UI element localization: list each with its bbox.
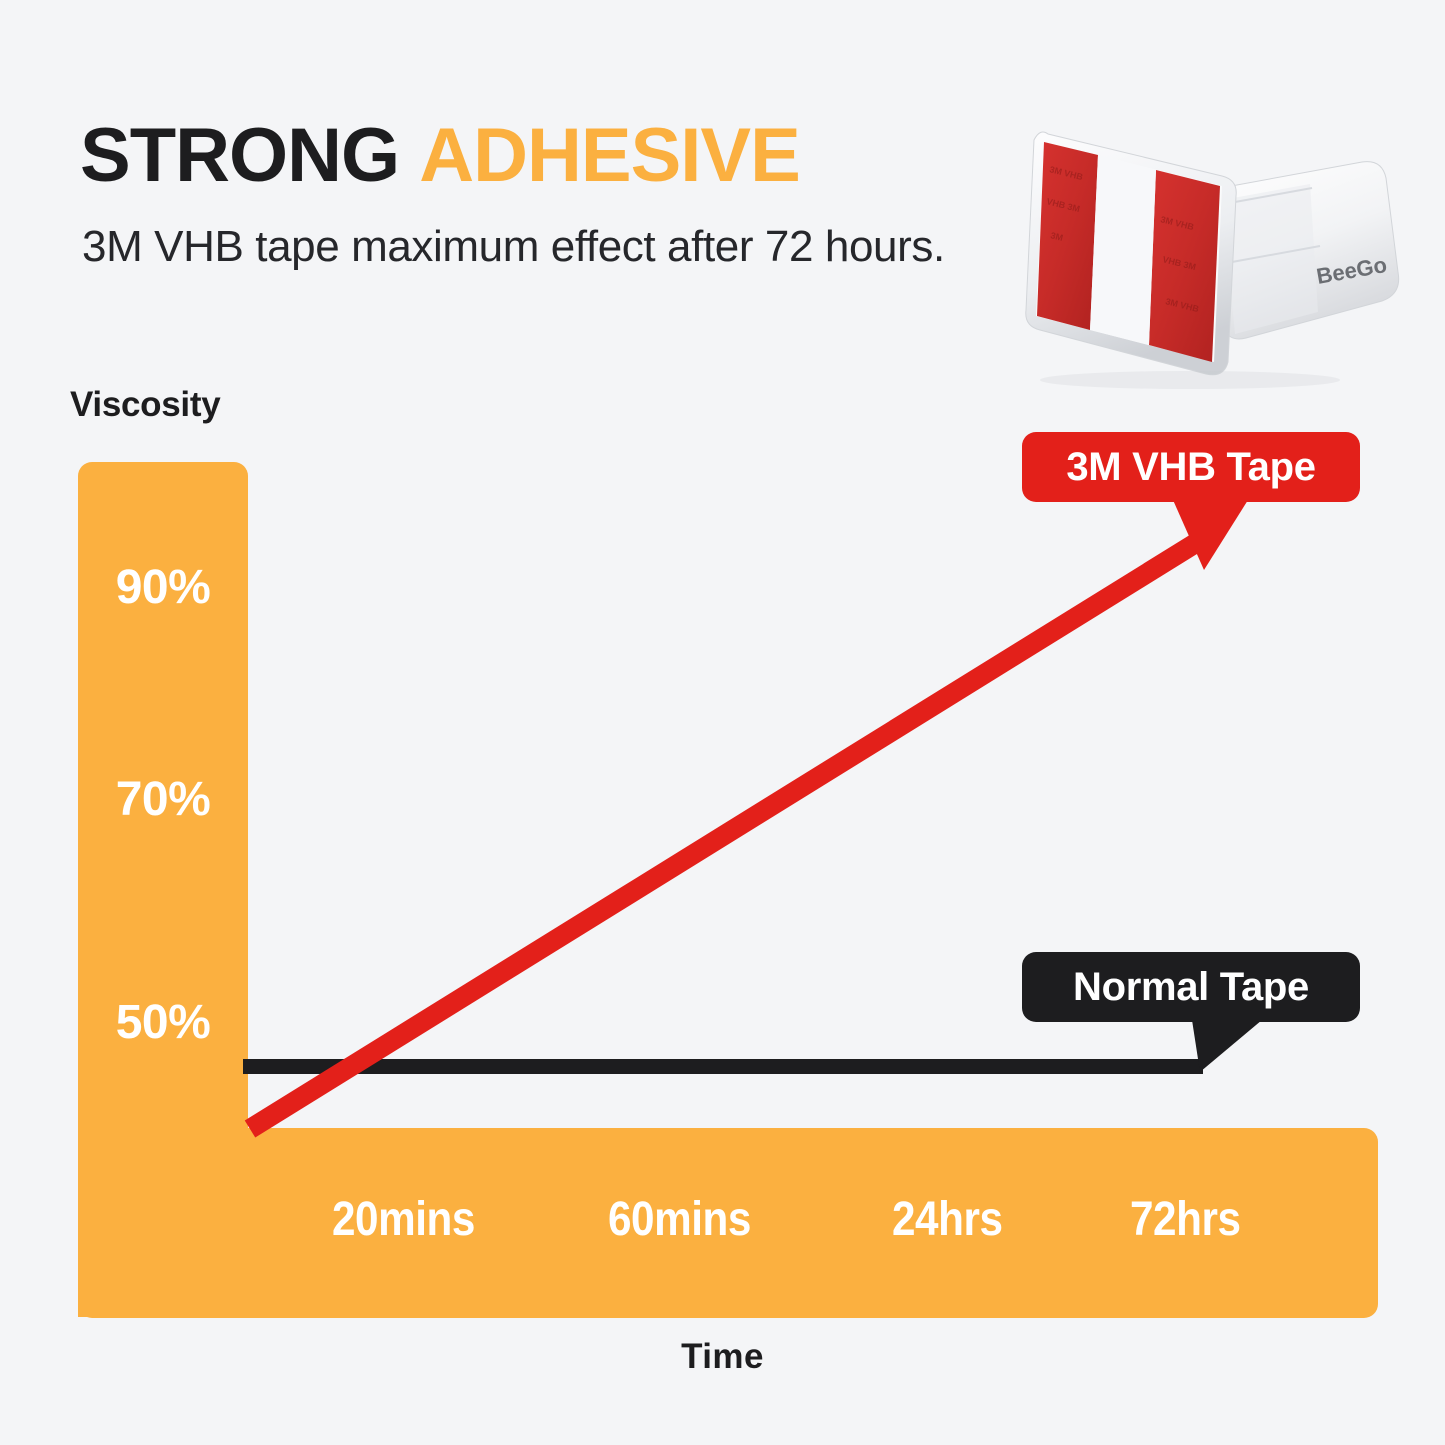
product-body <box>1210 162 1399 339</box>
page-title-accent: ADHESIVE <box>419 113 800 198</box>
series-line-normal-tape <box>243 1059 1203 1074</box>
callout-badge-vhb-label: 3M VHB Tape <box>1066 445 1315 490</box>
x-axis-tick-72hrs: 72hrs <box>1130 1192 1241 1247</box>
infographic-canvas: STRONG ADHESIVE 3M VHB tape maximum effe… <box>0 0 1445 1445</box>
y-axis-tick-70: 70% <box>78 772 248 827</box>
callout-badge-normal[interactable]: Normal Tape <box>1022 952 1360 1022</box>
y-axis-title: Viscosity <box>70 385 220 425</box>
y-axis-tick-90: 90% <box>78 560 248 615</box>
callout-tail-normal <box>1192 1020 1262 1072</box>
callout-badge-vhb[interactable]: 3M VHB Tape <box>1022 432 1360 502</box>
product-illustration-svg: BeeGo 3M VHB VHB 3M 3M 3M VHB VHB 3M 3M … <box>1010 112 1420 397</box>
series-line-3m-vhb-tape <box>250 541 1199 1129</box>
product-image: BeeGo 3M VHB VHB 3M 3M 3M VHB VHB 3M 3M … <box>1010 112 1420 397</box>
callout-tail-vhb <box>1173 500 1248 570</box>
x-axis-tick-60mins: 60mins <box>608 1192 751 1247</box>
callout-badge-normal-label: Normal Tape <box>1073 965 1309 1010</box>
page-title-strong: STRONG <box>80 113 399 198</box>
page-title: STRONG ADHESIVE <box>80 118 800 194</box>
x-axis-title: Time <box>0 1337 1445 1377</box>
x-axis-tick-24hrs: 24hrs <box>892 1192 1003 1247</box>
page-subtitle: 3M VHB tape maximum effect after 72 hour… <box>82 222 945 272</box>
x-axis-tick-20mins: 20mins <box>332 1192 475 1247</box>
y-axis-tick-50: 50% <box>78 995 248 1050</box>
